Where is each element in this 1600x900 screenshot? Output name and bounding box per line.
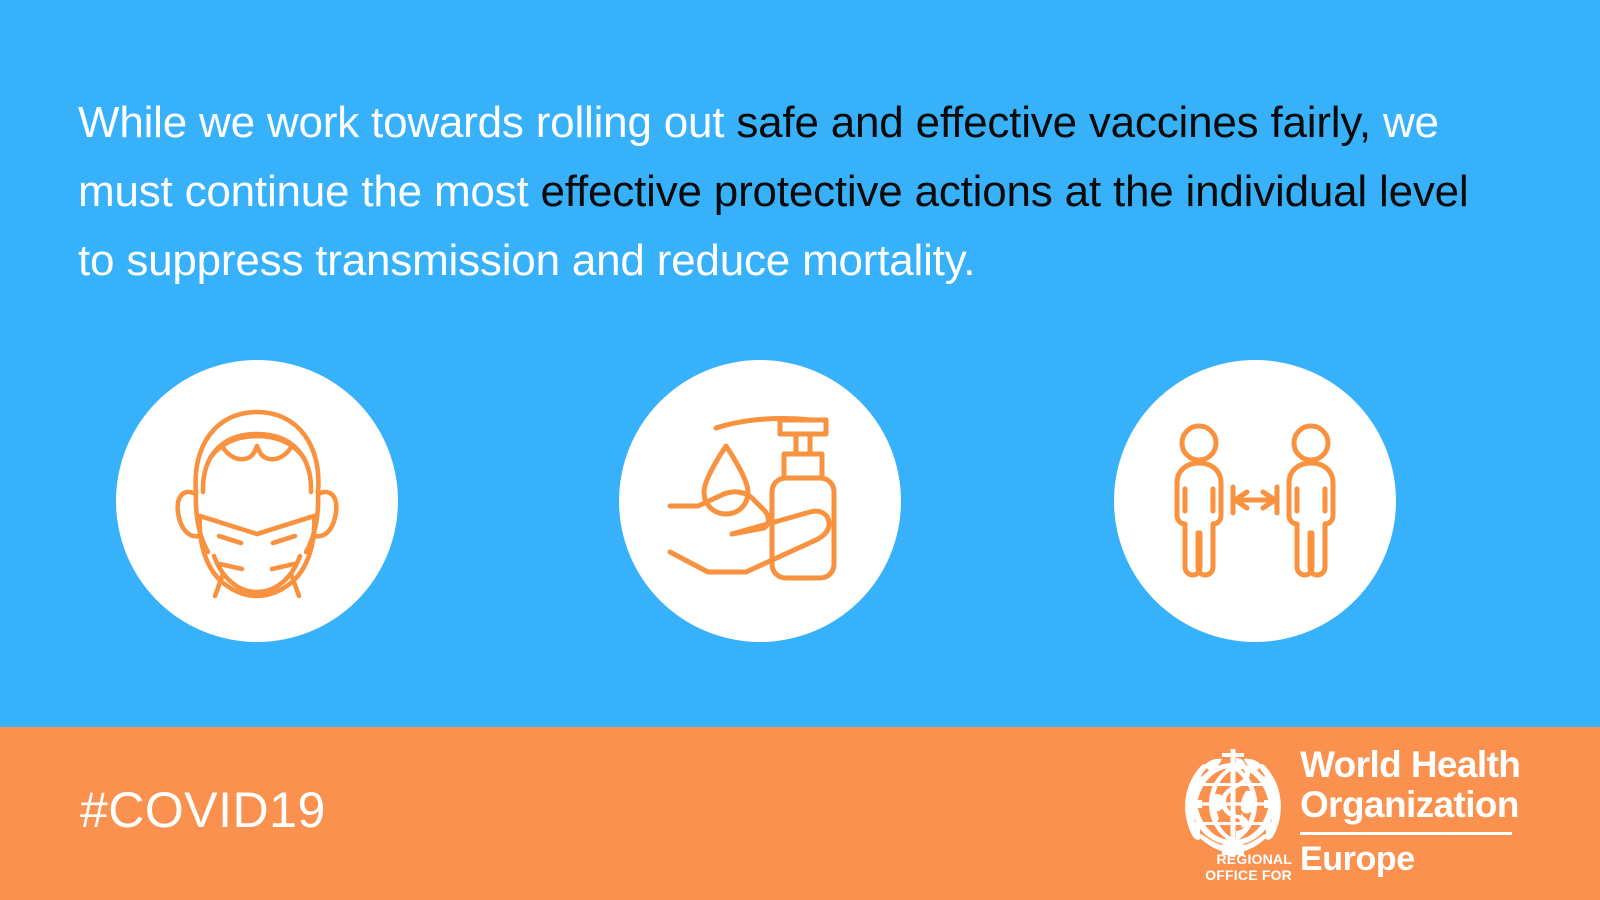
- headline-segment-4-emphasis: effective protective actions at the indi…: [541, 167, 1469, 216]
- headline-segment-1: While we work towards rolling out: [78, 98, 736, 147]
- headline-segment-2-emphasis: safe and effective vaccines fairly,: [736, 98, 1371, 147]
- icon-circle-physical-distancing: [1114, 360, 1396, 642]
- who-logo-divider: [1300, 832, 1512, 835]
- who-emblem-icon: [1172, 743, 1294, 865]
- physical-distancing-icon: [1155, 421, 1355, 581]
- protective-actions-icon-row: [0, 360, 1600, 645]
- who-region-label: Europe: [1300, 839, 1415, 879]
- who-regional-office-label: REGIONAL OFFICE FOR: [1172, 851, 1292, 883]
- who-logo-lockup: World Health Organization REGIONAL OFFIC…: [1172, 743, 1512, 889]
- who-wordmark: World Health Organization: [1300, 745, 1512, 825]
- headline-segment-5: to suppress transmission and reduce mort…: [78, 236, 975, 285]
- face-mask-icon: [162, 396, 352, 606]
- page-title: While we work towards rolling out safe a…: [78, 88, 1508, 295]
- covid19-awareness-poster: While we work towards rolling out safe a…: [0, 0, 1600, 900]
- who-wordmark-line-1: World Health: [1300, 745, 1512, 785]
- hashtag-covid19: #COVID19: [80, 785, 326, 835]
- icon-circle-face-mask: [116, 360, 398, 642]
- hand-sanitizer-icon: [660, 406, 860, 596]
- footer-bar: #COVID19: [0, 727, 1600, 900]
- who-wordmark-line-2: Organization: [1300, 785, 1512, 825]
- icon-circle-hand-sanitizer: [619, 360, 901, 642]
